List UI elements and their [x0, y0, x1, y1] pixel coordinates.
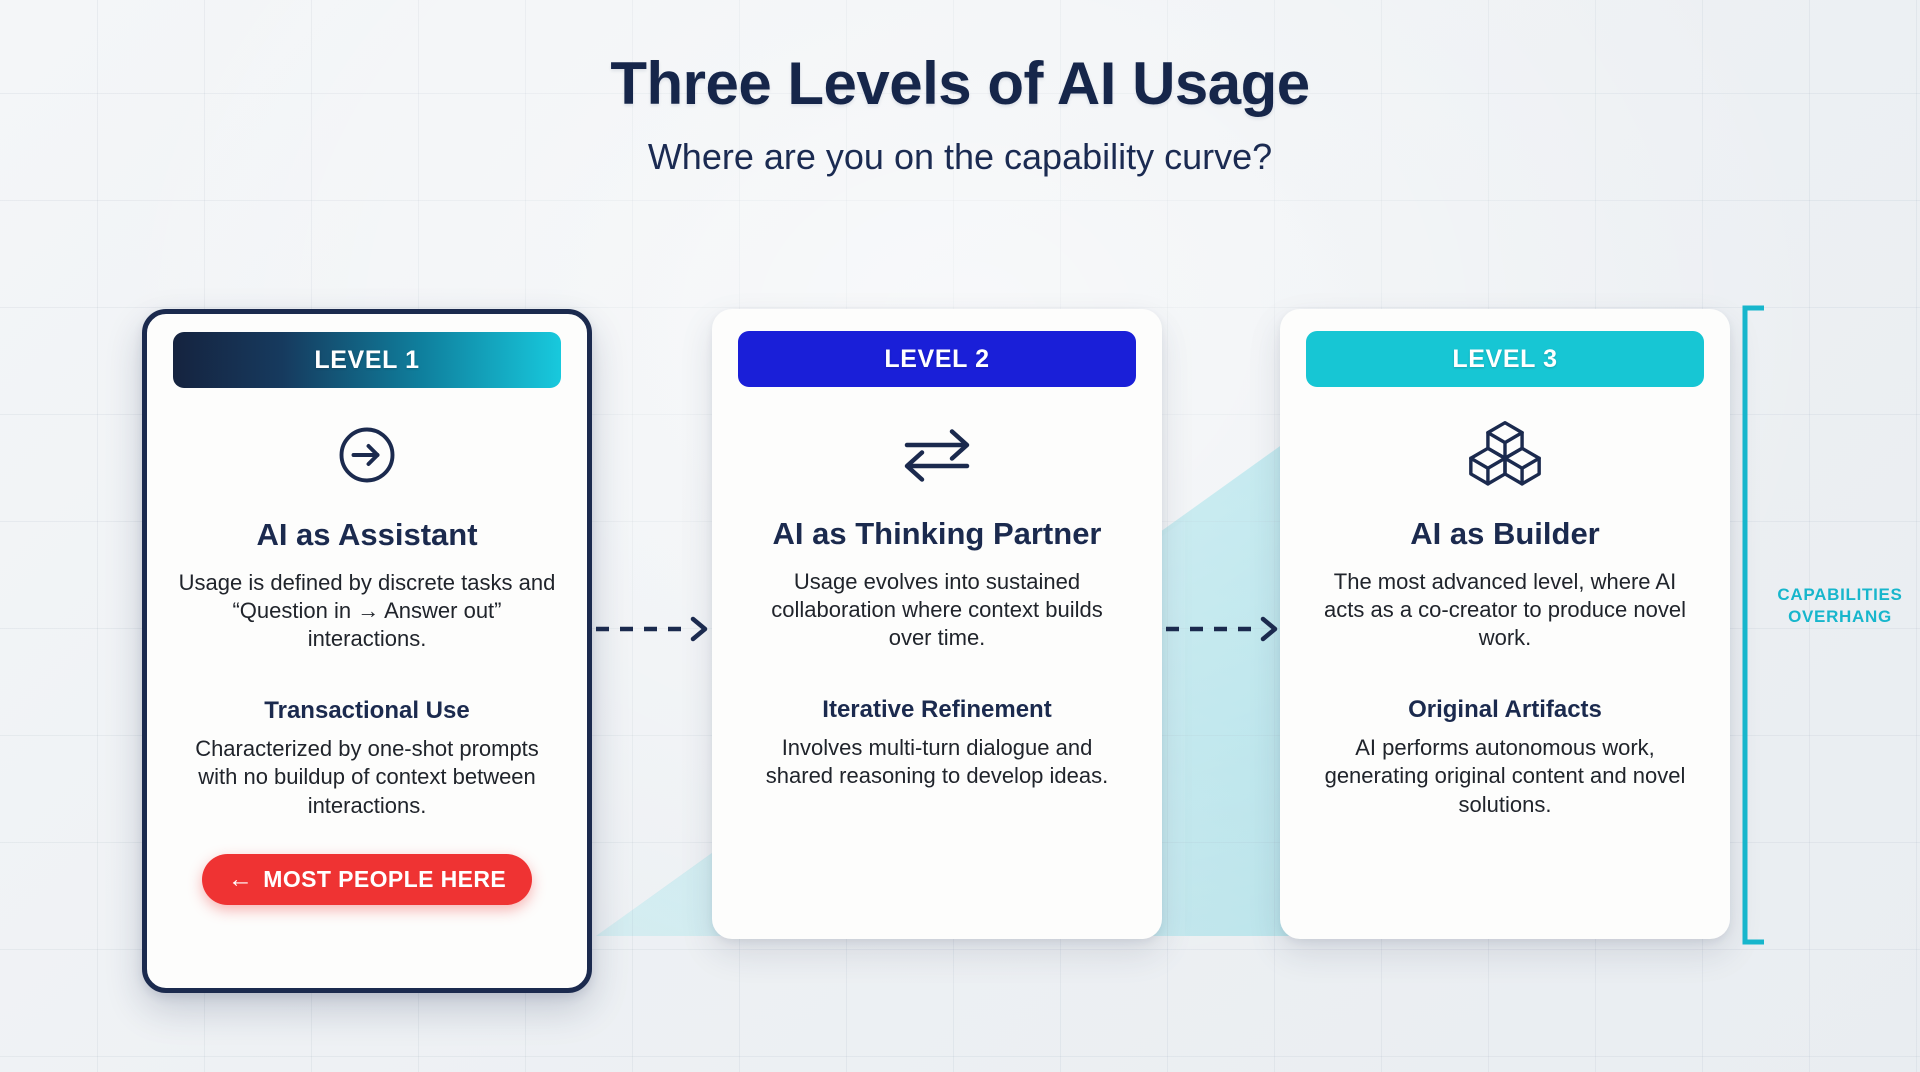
level-3-subheading: Original Artifacts — [1408, 696, 1602, 724]
level-1-subheading: Transactional Use — [264, 697, 469, 725]
badge-left-arrow-icon: ← — [228, 867, 253, 892]
page-title: Three Levels of AI Usage — [0, 52, 1920, 117]
overhang-label-line-2: OVERHANG — [1760, 606, 1920, 628]
levels-card-row: LEVEL 1 AI as Assistant Usage is defined… — [0, 305, 1920, 1005]
badge-label: MOST PEOPLE HERE — [263, 866, 506, 893]
capabilities-overhang-label: CAPABILITIES OVERHANG — [1760, 584, 1920, 628]
level-1-chip: LEVEL 1 — [173, 332, 561, 388]
page-subtitle: Where are you on the capability curve? — [0, 137, 1920, 177]
level-2-subheading: Iterative Refinement — [822, 696, 1051, 724]
level-1-heading: AI as Assistant — [256, 518, 477, 553]
infographic-canvas: Three Levels of AI Usage Where are you o… — [0, 0, 1920, 1072]
arrow-right-circle-icon — [331, 418, 403, 492]
page-header: Three Levels of AI Usage Where are you o… — [0, 52, 1920, 176]
stacked-cubes-icon — [1468, 417, 1542, 491]
level-3-chip: LEVEL 3 — [1306, 331, 1704, 387]
level-card-2[interactable]: LEVEL 2 AI as Thinking Partner Usage evo… — [712, 309, 1162, 939]
level-2-subbody: Involves multi-turn dialogue and shared … — [747, 734, 1127, 790]
level-1-subbody: Characterized by one-shot prompts with n… — [177, 735, 557, 819]
level-card-3[interactable]: LEVEL 3 AI as Builder — [1280, 309, 1730, 939]
level-3-heading: AI as Builder — [1410, 517, 1600, 552]
level-1-body: Usage is defined by discrete tasks and “… — [177, 569, 557, 653]
level-card-1[interactable]: LEVEL 1 AI as Assistant Usage is defined… — [142, 309, 592, 993]
level-3-subbody: AI performs autonomous work, generating … — [1315, 734, 1695, 818]
level-2-heading: AI as Thinking Partner — [772, 517, 1101, 552]
dashed-arrow-level1-to-level2 — [594, 612, 714, 646]
level-3-body: The most advanced level, where AI acts a… — [1315, 568, 1695, 652]
overhang-label-line-1: CAPABILITIES — [1760, 584, 1920, 606]
level-2-chip: LEVEL 2 — [738, 331, 1136, 387]
exchange-arrows-icon — [898, 417, 976, 491]
dashed-arrow-level2-to-level3 — [1164, 612, 1284, 646]
level-2-body: Usage evolves into sustained collaborati… — [747, 568, 1127, 652]
most-people-here-badge[interactable]: ← MOST PEOPLE HERE — [202, 854, 532, 905]
